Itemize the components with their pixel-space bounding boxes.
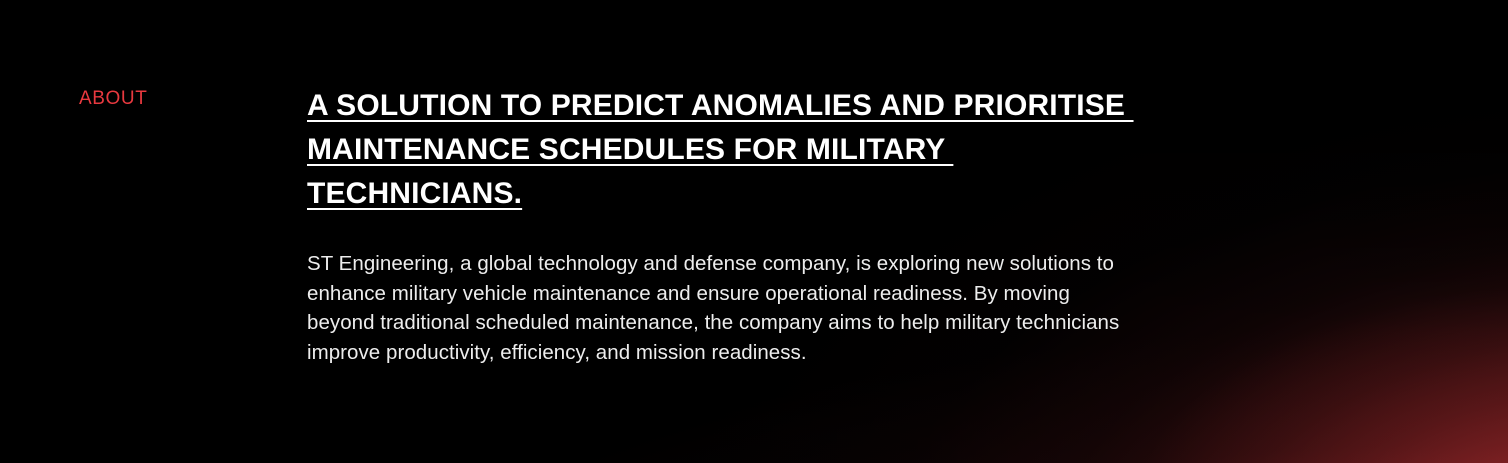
body-line-4: improve productivity, efficiency, and mi… bbox=[307, 338, 1337, 368]
headline-line-3-text: TECHNICIANS. bbox=[307, 177, 522, 210]
section-content: ABOUT A SOLUTION TO PREDICT ANOMALIES AN… bbox=[0, 0, 1508, 463]
body-line-3: beyond traditional scheduled maintenance… bbox=[307, 308, 1337, 338]
headline-line-1-text: A SOLUTION TO PREDICT ANOMALIES AND PRIO… bbox=[307, 89, 1134, 122]
section-headline: A SOLUTION TO PREDICT ANOMALIES AND PRIO… bbox=[307, 84, 1367, 216]
body-line-2: enhance military vehicle maintenance and… bbox=[307, 279, 1337, 309]
headline-line-2-text: MAINTENANCE SCHEDULES FOR MILITARY bbox=[307, 133, 953, 166]
headline-line-1: A SOLUTION TO PREDICT ANOMALIES AND PRIO… bbox=[307, 84, 1367, 128]
headline-line-3: TECHNICIANS. bbox=[307, 172, 1367, 216]
body-line-1: ST Engineering, a global technology and … bbox=[307, 249, 1337, 279]
headline-line-2: MAINTENANCE SCHEDULES FOR MILITARY bbox=[307, 128, 1367, 172]
section-eyebrow-label: ABOUT bbox=[79, 88, 147, 110]
about-section: ABOUT A SOLUTION TO PREDICT ANOMALIES AN… bbox=[0, 0, 1508, 463]
section-text-column: A SOLUTION TO PREDICT ANOMALIES AND PRIO… bbox=[307, 84, 1367, 367]
section-body-copy: ST Engineering, a global technology and … bbox=[307, 216, 1337, 367]
